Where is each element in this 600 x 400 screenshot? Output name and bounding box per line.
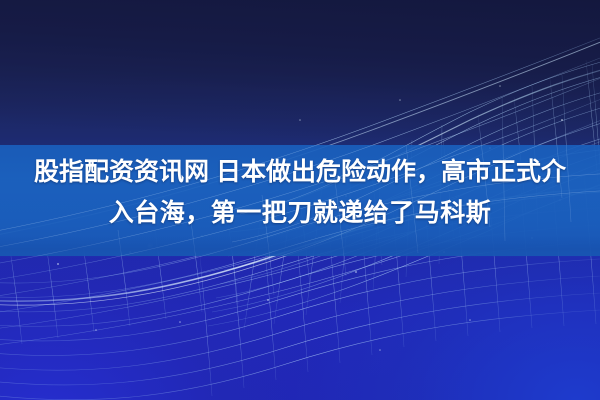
headline-line-2: 入台海，第一把刀就递给了马科斯 [0,193,600,234]
news-banner: 股指配资资讯网 日本做出危险动作，高市正式介 入台海，第一把刀就递给了马科斯 [0,0,600,400]
headline-text: 股指配资资讯网 日本做出危险动作，高市正式介 入台海，第一把刀就递给了马科斯 [0,152,600,234]
headline-line-1: 股指配资资讯网 日本做出危险动作，高市正式介 [0,152,600,193]
headline-band-bottom-fade [0,236,600,258]
